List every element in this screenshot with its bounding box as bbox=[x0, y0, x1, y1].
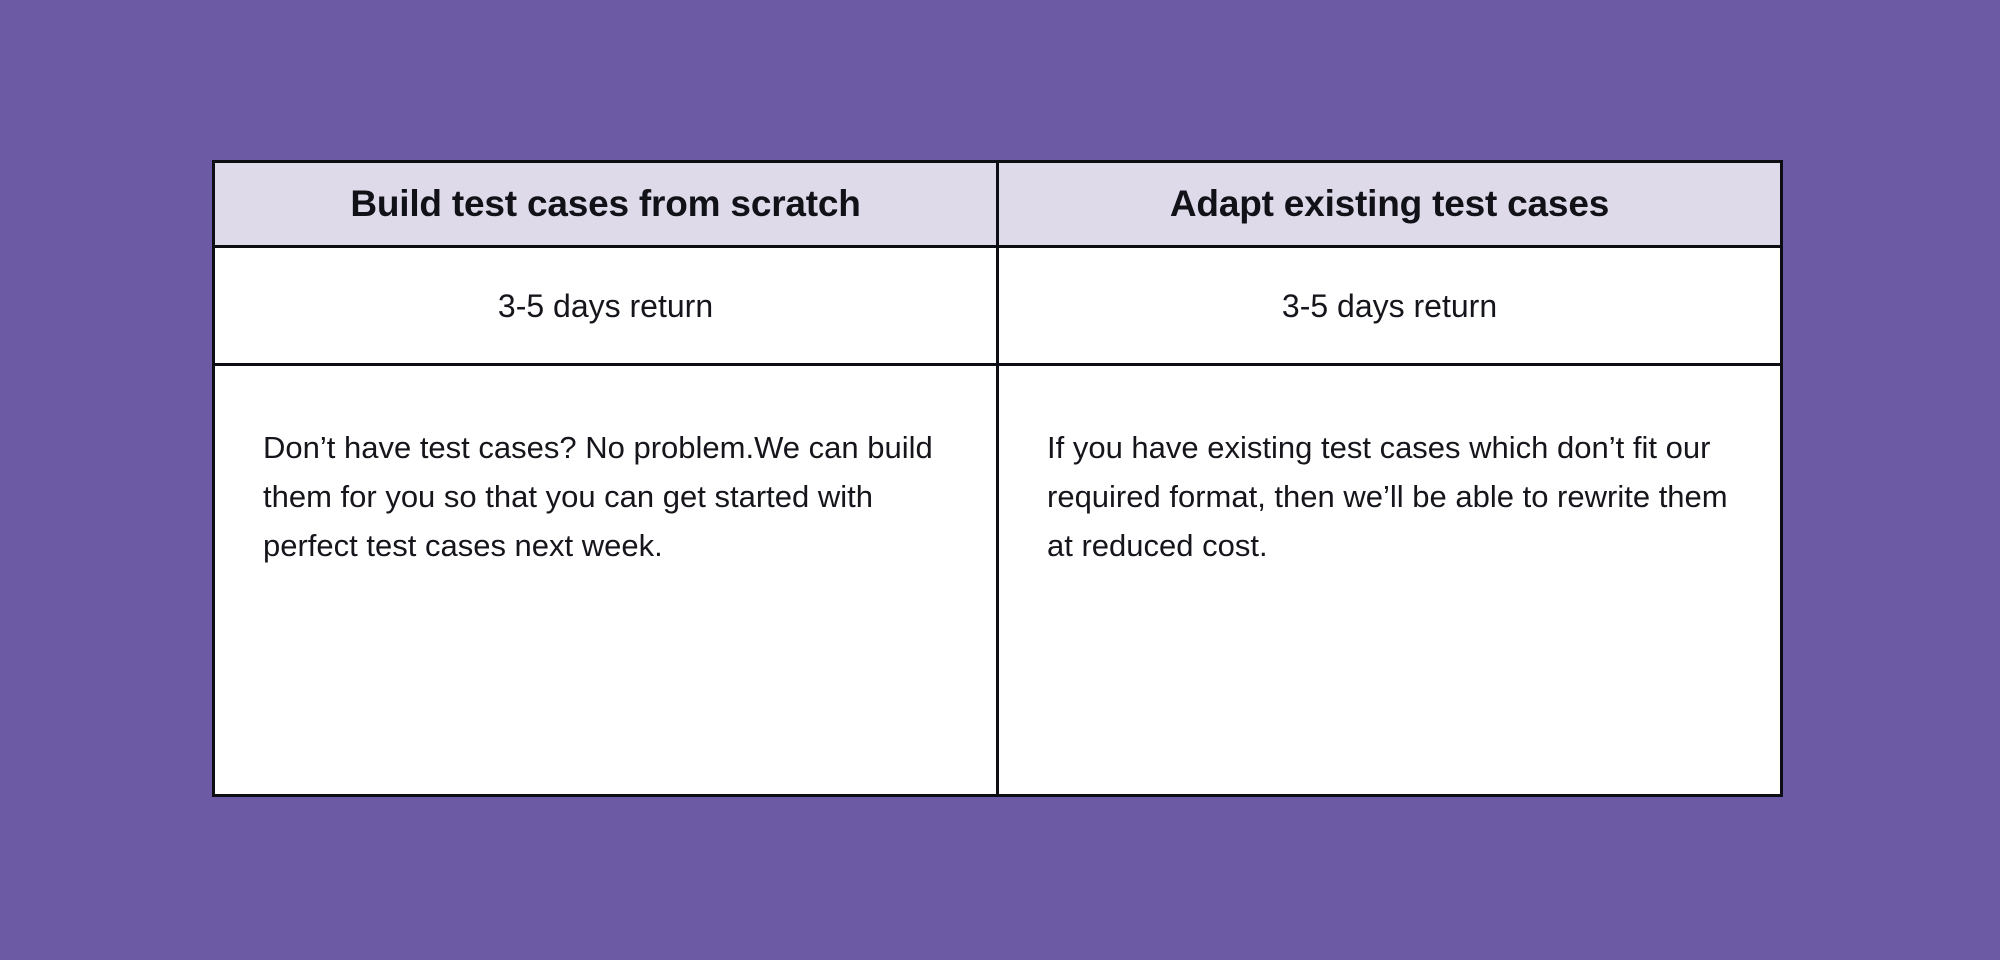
description-text: If you have existing test cases which do… bbox=[1047, 424, 1732, 571]
page-background: Build test cases from scratch Adapt exis… bbox=[0, 0, 2000, 960]
turnaround-cell-build-from-scratch: 3-5 days return bbox=[214, 247, 998, 365]
turnaround-label: 3-5 days return bbox=[1023, 287, 1756, 325]
description-cell-adapt-existing: If you have existing test cases which do… bbox=[998, 365, 1782, 796]
turnaround-label: 3-5 days return bbox=[239, 287, 972, 325]
column-header-adapt-existing: Adapt existing test cases bbox=[998, 162, 1782, 247]
table-row-turnaround: 3-5 days return 3-5 days return bbox=[214, 247, 1782, 365]
column-header-label: Build test cases from scratch bbox=[239, 182, 972, 226]
table-row-description: Don’t have test cases? No problem.We can… bbox=[214, 365, 1782, 796]
table-header-row: Build test cases from scratch Adapt exis… bbox=[214, 162, 1782, 247]
column-header-label: Adapt existing test cases bbox=[1023, 182, 1756, 226]
column-header-build-from-scratch: Build test cases from scratch bbox=[214, 162, 998, 247]
turnaround-cell-adapt-existing: 3-5 days return bbox=[998, 247, 1782, 365]
comparison-table: Build test cases from scratch Adapt exis… bbox=[212, 160, 1783, 797]
description-text: Don’t have test cases? No problem.We can… bbox=[263, 424, 948, 571]
description-cell-build-from-scratch: Don’t have test cases? No problem.We can… bbox=[214, 365, 998, 796]
